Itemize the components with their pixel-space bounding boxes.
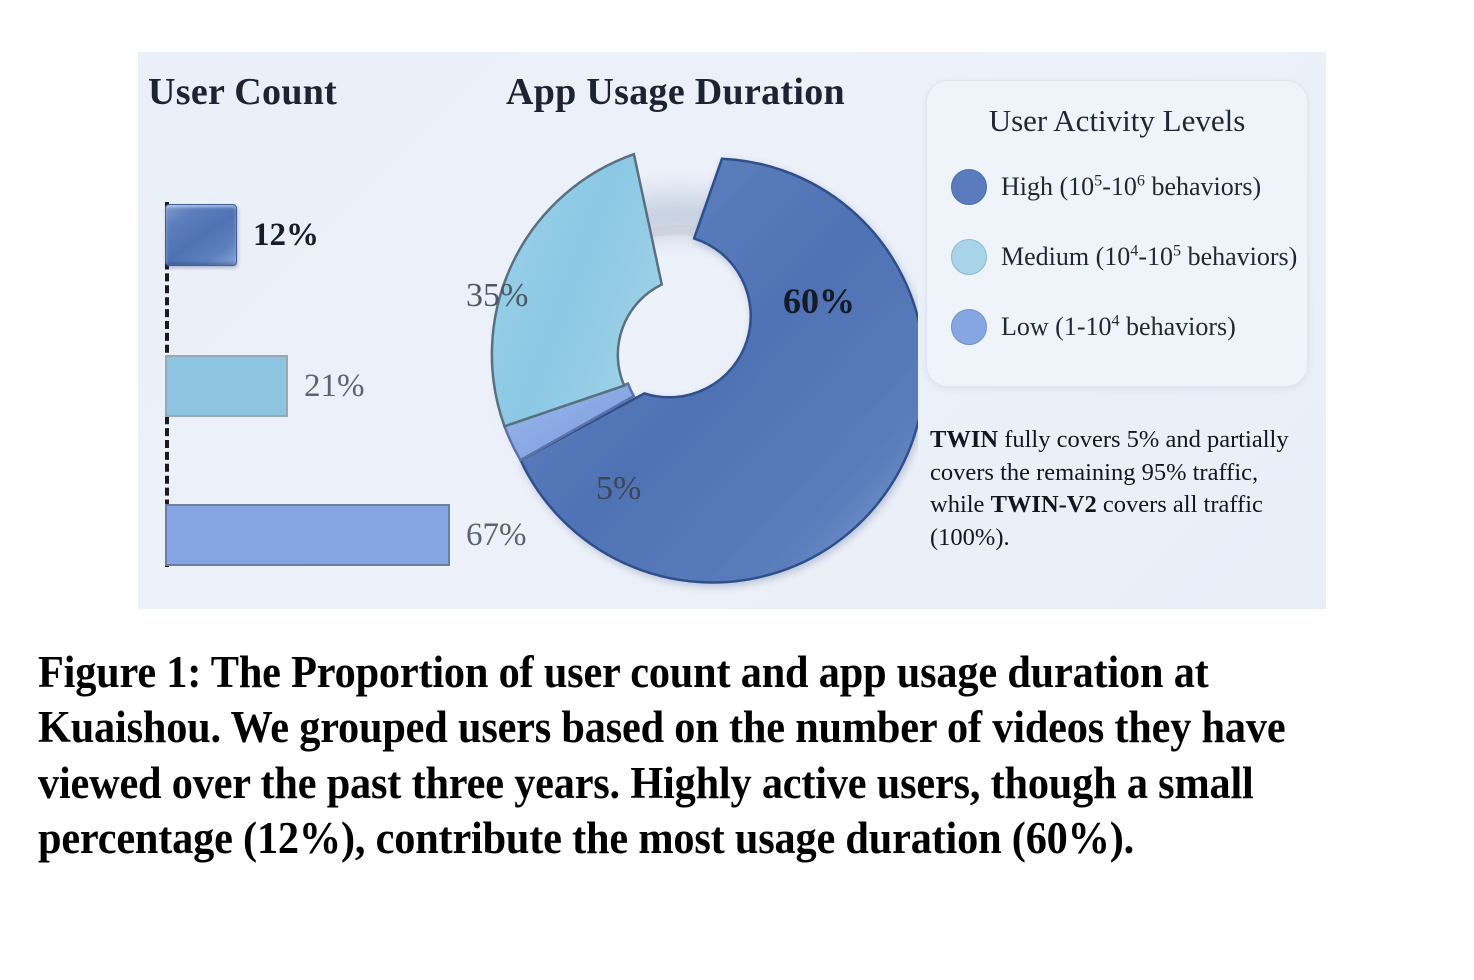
legend-label-medium: Medium (104-105 behaviors)	[1001, 242, 1297, 272]
legend-dot-medium-icon	[951, 239, 987, 275]
donut-label-medium: 35%	[466, 277, 528, 315]
legend-label-high: High (105-106 behaviors)	[1001, 172, 1261, 202]
figure-panel: User Count App Usage Duration 12% 21% 67…	[138, 52, 1326, 609]
legend-dot-low-icon	[951, 309, 987, 345]
bar-label-high: 12%	[253, 217, 319, 254]
twin-v2-bold: TWIN-V2	[991, 491, 1097, 518]
bar-high[interactable]	[165, 204, 237, 266]
legend-label-low: Low (1-104 behaviors)	[1001, 312, 1236, 342]
twin-coverage-note: TWIN fully covers 5% and partially cover…	[930, 424, 1302, 554]
bar-low[interactable]	[165, 504, 450, 566]
donut-label-high: 60%	[783, 280, 855, 322]
bar-label-medium: 21%	[304, 368, 365, 405]
figure-caption: Figure 1: The Proportion of user count a…	[38, 645, 1356, 866]
bar-row-high: 12%	[165, 204, 319, 266]
legend-title: User Activity Levels	[927, 103, 1307, 139]
twin-bold: TWIN	[930, 426, 998, 453]
app-usage-donut-chart: 60% 35% 5%	[438, 122, 918, 602]
legend-item-medium[interactable]: Medium (104-105 behaviors)	[951, 239, 1297, 275]
legend-dot-high-icon	[951, 169, 987, 205]
user-count-title: User Count	[148, 70, 337, 114]
donut-label-low: 5%	[596, 470, 641, 508]
bar-medium[interactable]	[165, 355, 288, 417]
bar-row-medium: 21%	[165, 355, 365, 417]
legend-item-high[interactable]: High (105-106 behaviors)	[951, 169, 1261, 205]
legend-item-low[interactable]: Low (1-104 behaviors)	[951, 309, 1236, 345]
donut-svg	[438, 122, 918, 602]
legend-box: User Activity Levels High (105-106 behav…	[926, 80, 1308, 387]
app-usage-duration-title: App Usage Duration	[506, 70, 845, 114]
